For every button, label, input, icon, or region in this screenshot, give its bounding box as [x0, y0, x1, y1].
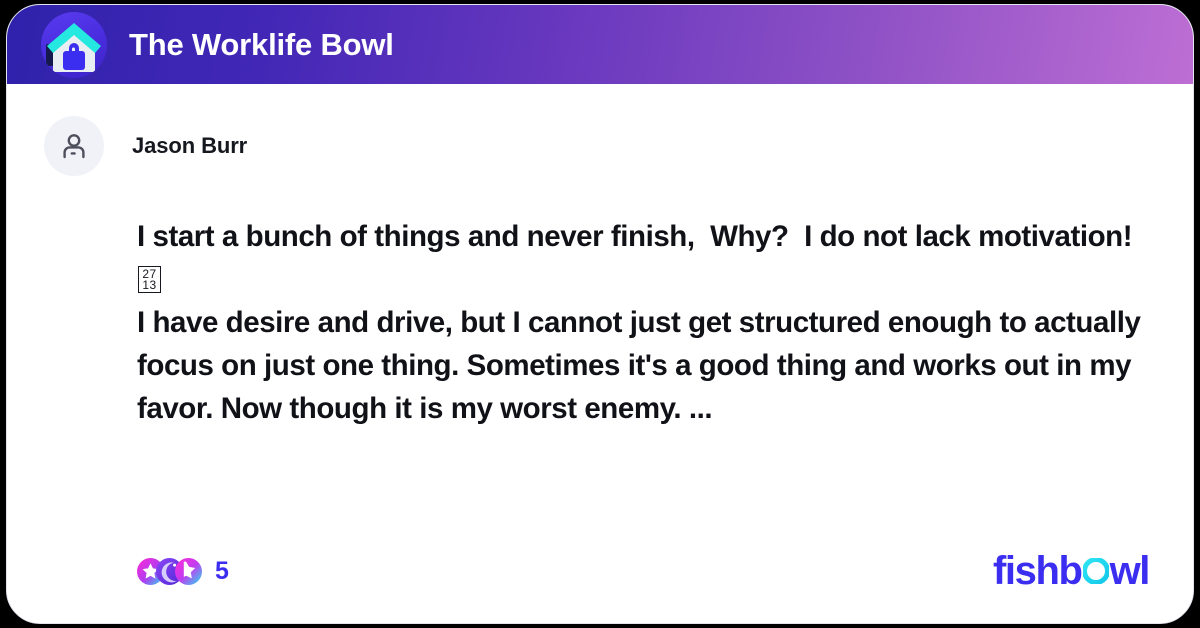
post-body: Jason Burr I start a bunch of things and… [7, 84, 1193, 624]
worklife-bowl-house-icon [41, 12, 107, 78]
house-briefcase-glyph [41, 12, 107, 78]
reaction-sparkle[interactable] [175, 558, 202, 585]
bowl-title: The Worklife Bowl [129, 27, 394, 63]
avatar[interactable] [44, 116, 104, 176]
fishbowl-logo-part1: fishb [993, 551, 1082, 591]
missing-glyph-bottom: 13 [139, 280, 160, 292]
post-text-part-1: I start a bunch of things and never fini… [137, 220, 1140, 253]
author-row[interactable]: Jason Burr [7, 84, 1193, 176]
fishbowl-logo-part2: wl [1110, 551, 1149, 591]
reaction-count: 5 [215, 557, 229, 586]
person-icon [59, 131, 89, 161]
post-text-part-2: I have desire and drive, but I cannot ju… [137, 306, 1148, 425]
post-card: The Worklife Bowl Jason Burr I start a b… [6, 4, 1194, 624]
reactions-group[interactable]: 5 [137, 557, 229, 586]
post-footer: 5 fishb wl [7, 517, 1193, 624]
post-text: I start a bunch of things and never fini… [137, 215, 1143, 430]
bowl-header[interactable]: The Worklife Bowl [7, 5, 1193, 84]
author-name: Jason Burr [132, 133, 247, 159]
missing-glyph-box: 2713 [138, 266, 161, 293]
reaction-bubbles[interactable] [137, 558, 202, 585]
fishbowl-logo[interactable]: fishb wl [993, 551, 1149, 591]
fishbowl-logo-o-icon [1083, 558, 1109, 584]
